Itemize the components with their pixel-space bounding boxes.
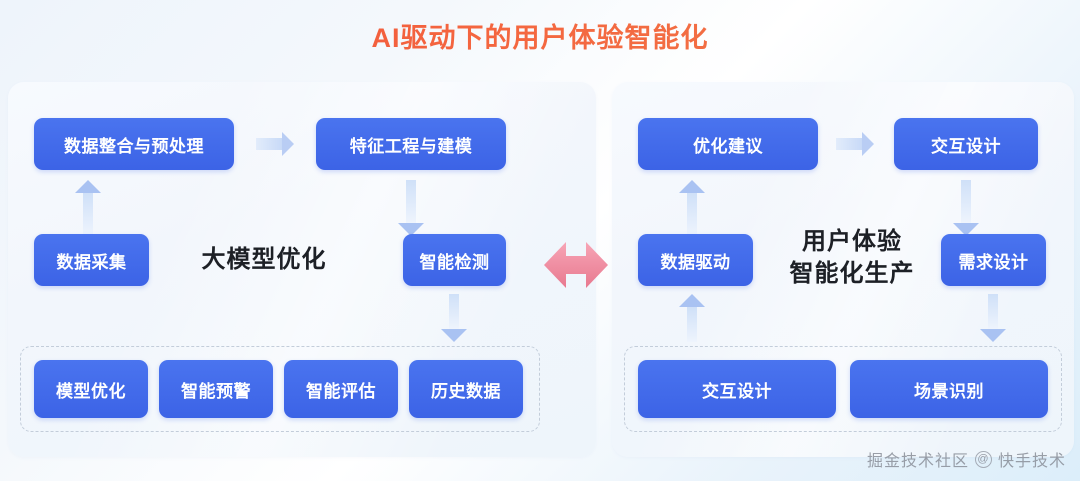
box-model-optimization[interactable]: 模型优化 bbox=[34, 360, 148, 418]
box-label: 数据驱动 bbox=[661, 248, 731, 273]
watermark-source: 掘金技术社区 bbox=[867, 447, 969, 471]
arrow-right-icon bbox=[836, 132, 874, 156]
box-scene-recognition[interactable]: 场景识别 bbox=[850, 360, 1048, 418]
box-intelligent-detection[interactable]: 智能检测 bbox=[403, 234, 506, 286]
double-arrow-horizontal-icon bbox=[540, 234, 612, 296]
box-interaction-design-bottom[interactable]: 交互设计 bbox=[638, 360, 836, 418]
box-label: 数据采集 bbox=[57, 248, 127, 273]
box-label: 交互设计 bbox=[931, 132, 1001, 157]
arrow-right-icon bbox=[256, 132, 294, 156]
watermark: 掘金技术社区 @ 快手技术 bbox=[867, 447, 1066, 471]
box-label: 需求设计 bbox=[959, 248, 1029, 273]
page-title: AI驱动下的用户体验智能化 bbox=[0, 16, 1080, 55]
arrow-down-icon bbox=[398, 180, 424, 236]
left-panel-center-label: 大模型优化 bbox=[164, 244, 364, 276]
box-requirement-design[interactable]: 需求设计 bbox=[941, 234, 1046, 286]
arrow-up-icon bbox=[75, 180, 101, 236]
box-label: 历史数据 bbox=[431, 377, 501, 402]
right-center-label-line2: 智能化生产 bbox=[762, 258, 942, 290]
box-label: 智能预警 bbox=[181, 377, 251, 402]
right-center-label-line1: 用户体验 bbox=[762, 226, 942, 258]
box-intelligent-alert[interactable]: 智能预警 bbox=[159, 360, 273, 418]
left-panel: 数据整合与预处理 特征工程与建模 数据采集 大模型优化 智能检测 模型优化 智能… bbox=[8, 82, 596, 457]
box-data-collection[interactable]: 数据采集 bbox=[34, 234, 149, 286]
box-data-driven[interactable]: 数据驱动 bbox=[638, 234, 753, 286]
box-label: 交互设计 bbox=[702, 377, 772, 402]
box-label: 特征工程与建模 bbox=[350, 132, 473, 157]
arrow-down-icon bbox=[953, 180, 979, 236]
watermark-account: 快手技术 bbox=[998, 447, 1066, 471]
box-label: 优化建议 bbox=[693, 132, 763, 157]
box-label: 场景识别 bbox=[914, 377, 984, 402]
right-panel: 优化建议 交互设计 数据驱动 用户体验 智能化生产 需求设计 交互设计 场景识别 bbox=[612, 82, 1074, 457]
box-label: 模型优化 bbox=[56, 377, 126, 402]
arrow-down-icon bbox=[980, 294, 1006, 342]
box-historical-data[interactable]: 历史数据 bbox=[409, 360, 523, 418]
box-feature-engineering[interactable]: 特征工程与建模 bbox=[316, 118, 506, 170]
box-label: 数据整合与预处理 bbox=[64, 132, 204, 157]
box-optimization-suggestion[interactable]: 优化建议 bbox=[638, 118, 818, 170]
right-panel-center-label: 用户体验 智能化生产 bbox=[762, 226, 942, 289]
box-interaction-design-top[interactable]: 交互设计 bbox=[894, 118, 1038, 170]
box-label: 智能评估 bbox=[306, 377, 376, 402]
arrow-up-icon bbox=[679, 180, 705, 236]
box-intelligent-assessment[interactable]: 智能评估 bbox=[284, 360, 398, 418]
arrow-down-icon bbox=[441, 294, 467, 342]
at-icon: @ bbox=[975, 451, 992, 468]
box-data-integration[interactable]: 数据整合与预处理 bbox=[34, 118, 234, 170]
box-label: 智能检测 bbox=[420, 248, 490, 273]
arrow-up-icon bbox=[679, 294, 705, 342]
